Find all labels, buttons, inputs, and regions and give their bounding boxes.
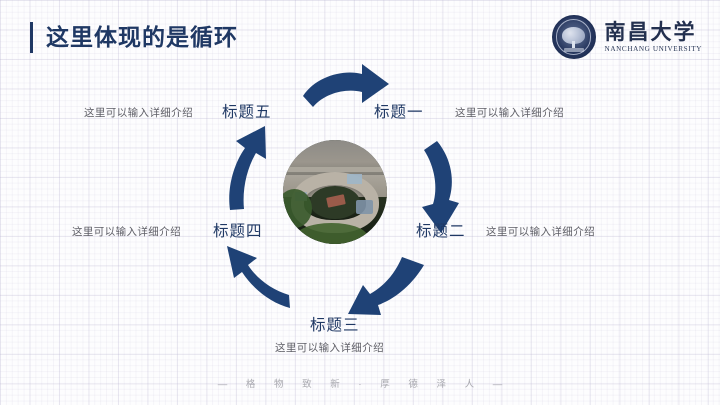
slide-canvas: 这里体现的是循环 南昌大学 NANCHANG UNIVERSITY bbox=[0, 0, 720, 405]
node-desc-5: 这里可以输入详细介绍 bbox=[84, 108, 193, 119]
title-accent-bar bbox=[30, 22, 33, 53]
cycle-diagram: 标题一 这里可以输入详细介绍 标题二 这里可以输入详细介绍 标题三 这里可以输入… bbox=[0, 55, 720, 355]
node-label-1: 标题一 bbox=[374, 105, 424, 121]
university-logo: 南昌大学 NANCHANG UNIVERSITY bbox=[552, 13, 702, 61]
node-desc-4: 这里可以输入详细介绍 bbox=[72, 227, 181, 238]
logo-name-cn: 南昌大学 bbox=[605, 21, 702, 43]
node-label-2: 标题二 bbox=[416, 224, 466, 240]
tree-trunk-shape bbox=[572, 41, 575, 48]
node-label-4: 标题四 bbox=[213, 224, 263, 240]
photo-texture bbox=[283, 140, 387, 244]
node-desc-1: 这里可以输入详细介绍 bbox=[455, 108, 564, 119]
center-campus-photo bbox=[283, 140, 387, 244]
page-title: 这里体现的是循环 bbox=[30, 19, 238, 55]
page-title-text: 这里体现的是循环 bbox=[46, 26, 238, 49]
node-desc-3: 这里可以输入详细介绍 bbox=[275, 343, 384, 354]
node-label-3: 标题三 bbox=[310, 318, 360, 334]
arrow-two-to-three bbox=[348, 257, 424, 315]
university-seal-tree-icon bbox=[552, 15, 596, 59]
footer-motto: — 格 物 致 新 · 厚 德 泽 人 — bbox=[0, 376, 720, 390]
arrow-three-to-four bbox=[227, 246, 290, 308]
node-desc-2: 这里可以输入详细介绍 bbox=[486, 227, 595, 238]
arrow-four-to-five bbox=[229, 126, 266, 210]
logo-name-en: NANCHANG UNIVERSITY bbox=[605, 45, 702, 53]
arrow-five-to-one bbox=[303, 64, 389, 107]
arrow-one-to-two bbox=[422, 141, 459, 233]
logo-text-block: 南昌大学 NANCHANG UNIVERSITY bbox=[605, 21, 702, 53]
node-label-5: 标题五 bbox=[222, 105, 272, 121]
seal-base-shape bbox=[564, 48, 584, 52]
